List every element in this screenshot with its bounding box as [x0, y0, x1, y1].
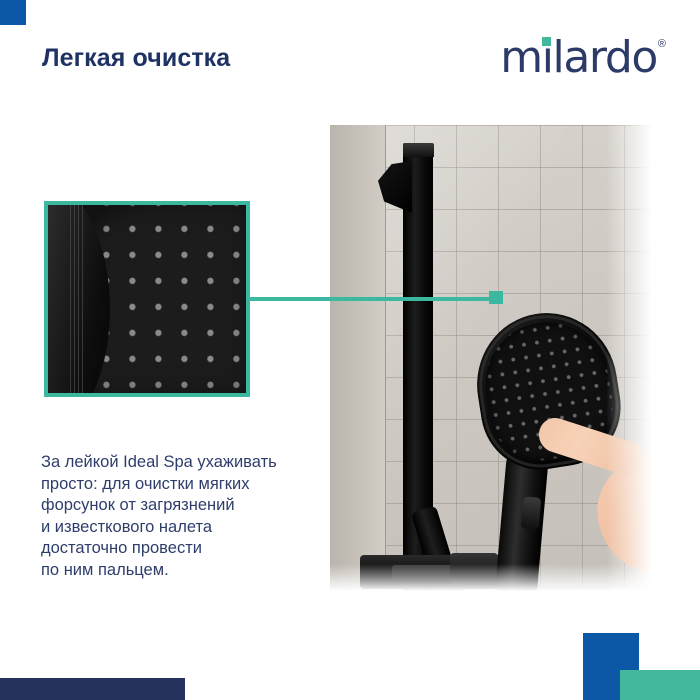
body-line: по ним пальцем.	[41, 560, 341, 582]
slide-bar-top-cap	[403, 143, 434, 157]
body-line: форсунок от загрязнений	[41, 495, 341, 517]
body-text: За лейкой Ideal Spa ухаживать просто: дл…	[41, 452, 341, 581]
body-line: и известкового налета	[41, 517, 341, 539]
brand-i-dot-icon	[542, 37, 551, 46]
body-line: достаточно провести	[41, 538, 341, 560]
corner-square-teal-bottom-right	[620, 670, 700, 700]
product-photo	[330, 125, 658, 598]
brand-wordmark: milardo	[500, 36, 657, 80]
photo-fade-right	[606, 125, 658, 598]
callout-connector-line	[250, 297, 495, 301]
page-title: Легкая очистка	[42, 44, 230, 73]
brand-logo: milardo ®	[500, 36, 666, 80]
registered-trademark-icon: ®	[658, 38, 666, 50]
corner-bar-navy-bottom-left	[0, 678, 185, 700]
body-line: просто: для очистки мягких	[41, 474, 341, 496]
body-line: За лейкой Ideal Spa ухаживать	[41, 452, 341, 474]
detail-zoom-panel	[44, 201, 250, 397]
corner-square-top-left	[0, 0, 26, 25]
photo-fade-bottom	[330, 564, 658, 598]
detail-shower-head-groove	[70, 201, 86, 397]
